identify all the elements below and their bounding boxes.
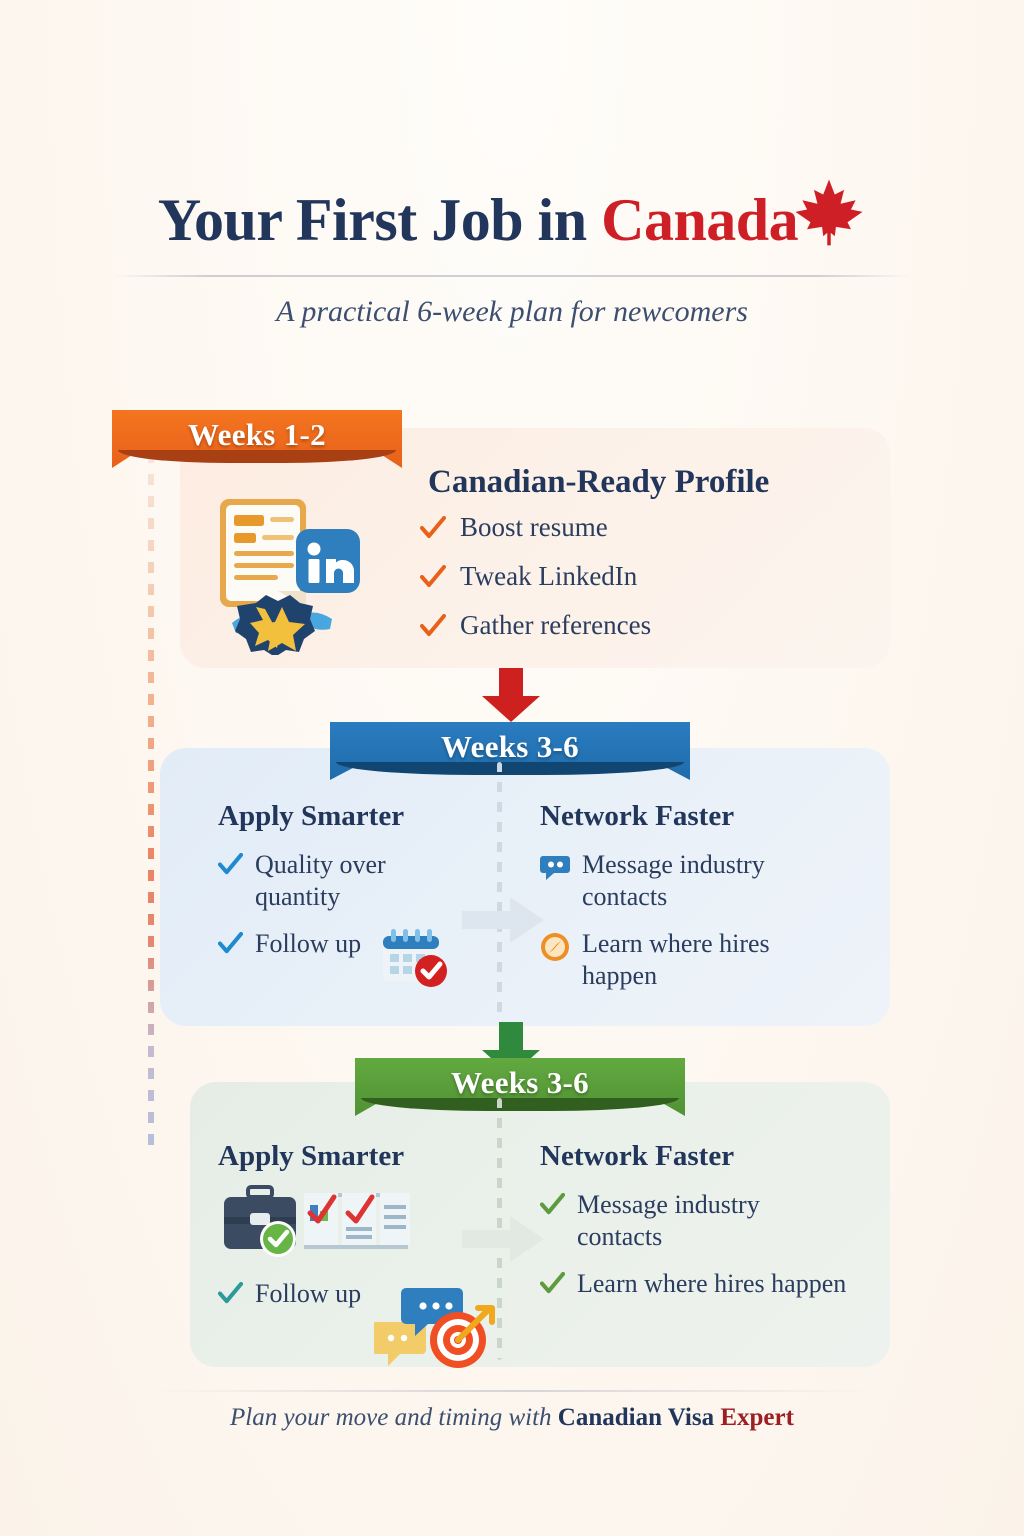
ribbon-weeks-3-6-green: Weeks 3-6 (355, 1058, 685, 1116)
list-item-label: Follow up (255, 928, 361, 960)
list-item-label: Message industry contacts (577, 1189, 850, 1252)
maple-leaf-icon (792, 176, 866, 261)
header: Your First Job in Canada A practical 6-w… (0, 176, 1024, 329)
footer-brand: Canadian Visa (558, 1404, 721, 1431)
calendar-check-icon (379, 926, 451, 995)
title-main: Your First Job in (158, 187, 601, 253)
list-item: Follow up (218, 928, 468, 995)
list-item: Learn where hires happen (540, 1268, 850, 1300)
section3-left-icon-cluster (218, 1183, 478, 1268)
timeline-dashed-line (148, 452, 154, 1152)
orange-check-icon (420, 516, 446, 545)
list-item: Quality over quantity (218, 849, 468, 912)
section3-chat-target-icons (374, 1282, 498, 1383)
page-subtitle: A practical 6-week plan for newcomers (0, 295, 1024, 329)
green-check-icon (540, 1193, 565, 1221)
ribbon-label: Weeks 3-6 (441, 729, 579, 765)
resume-document-icon (220, 499, 306, 607)
linkedin-icon (296, 529, 360, 593)
compass-icon (540, 932, 570, 967)
ribbon-label: Weeks 3-6 (451, 1065, 589, 1101)
footer-brand-accent: Expert (720, 1404, 794, 1431)
list-item: Message industry contacts (540, 1189, 850, 1252)
list-item-label: Follow up (255, 1278, 361, 1310)
blue-check-icon (218, 853, 243, 881)
column-heading: Apply Smarter (218, 1140, 478, 1173)
column-heading: Network Faster (540, 1140, 850, 1173)
checklist-icon (304, 1193, 410, 1249)
ribbon-weeks-1-2: Weeks 1-2 (112, 410, 402, 468)
list-item-label: Gather references (460, 610, 651, 641)
section1-heading: Canadian-Ready Profile (428, 464, 769, 501)
section1-icon-cluster (212, 495, 392, 655)
column-heading: Apply Smarter (218, 800, 468, 833)
list-item-label: Boost resume (460, 512, 608, 543)
blue-check-icon (218, 932, 243, 960)
ribbon-label: Weeks 1-2 (188, 417, 326, 453)
footer-lead: Plan your move and timing with (230, 1404, 558, 1431)
orange-check-icon (420, 565, 446, 594)
list-item: Gather references (420, 610, 651, 643)
list-item-label: Learn where hires happen (582, 928, 850, 991)
section2-right-column: Network Faster Message industry contacts (540, 800, 850, 992)
list-item: Tweak LinkedIn (420, 561, 651, 594)
speech-bubble-icon (540, 853, 570, 886)
title-divider (113, 275, 911, 277)
orange-check-icon (420, 614, 446, 643)
briefcase-check-icon (224, 1187, 296, 1257)
red-down-arrow (478, 668, 544, 724)
list-item: Boost resume (420, 512, 651, 545)
section2-column-divider (497, 762, 502, 1020)
list-item-label: Message industry contacts (582, 849, 850, 912)
ribbon-weeks-3-6-blue: Weeks 3-6 (330, 722, 690, 780)
title-accent: Canada (601, 187, 798, 253)
section1-list: Boost resume Tweak LinkedIn Gather refer… (420, 512, 651, 659)
list-item-label: Learn where hires happen (577, 1268, 846, 1300)
infographic-page: Your First Job in Canada A practical 6-w… (0, 0, 1024, 1536)
column-heading: Network Faster (540, 800, 850, 833)
footer: Plan your move and timing with Canadian … (0, 1404, 1024, 1432)
list-item-label: Quality over quantity (255, 849, 468, 912)
section3-flow-arrow (462, 1212, 546, 1266)
list-item: Message industry contacts (540, 849, 850, 912)
section2-left-column: Apply Smarter Quality over quantity Foll… (218, 800, 468, 995)
footer-divider (150, 1390, 874, 1392)
green-check-icon (540, 1272, 565, 1300)
section2-flow-arrow (462, 893, 546, 947)
list-item: Learn where hires happen (540, 928, 850, 991)
section3-right-column: Network Faster Message industry contacts… (540, 1140, 850, 1300)
page-title: Your First Job in Canada (158, 176, 866, 261)
teal-check-icon (218, 1282, 243, 1310)
list-item-label: Tweak LinkedIn (460, 561, 637, 592)
